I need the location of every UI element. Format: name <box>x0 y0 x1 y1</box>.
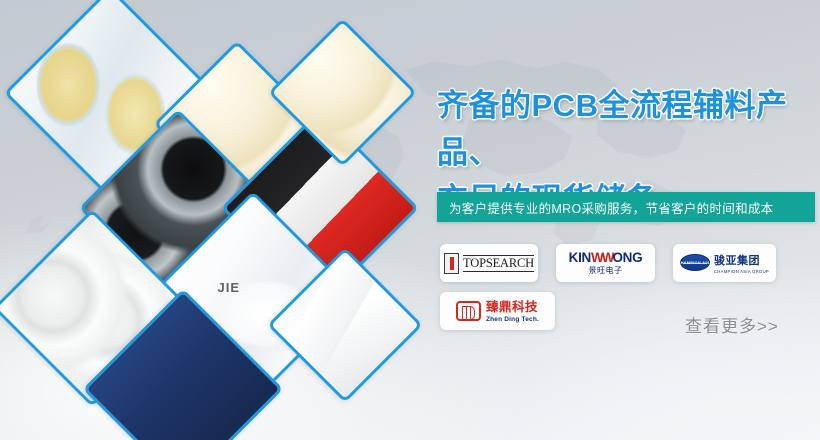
banner-subtitle-text: 为客户提供专业的MRO采购服务，节省客户的时间和成本 <box>449 198 773 217</box>
promo-banner: JIE 齐备的PCB全流程辅料产品、 充足的现货储备 为客户提供专业的MRO采购… <box>0 0 820 440</box>
collage-tile-navy-pouch <box>83 289 284 440</box>
sticker-watermark: JIE <box>218 280 241 295</box>
partner-logo-topsearch[interactable]: TOPSEARCH <box>440 244 538 282</box>
collage-tile-white-rolls <box>0 209 191 407</box>
collage-tile-film-rolls <box>4 0 216 199</box>
partner-logo-row-2: 臻鼎科技 Zhen Ding Tech. <box>440 292 555 330</box>
collage-tile-sticker-sheet: JIE <box>147 191 359 403</box>
kinwong-label-cn: 景旺电子 <box>569 267 643 275</box>
topsearch-mark-icon <box>444 253 459 274</box>
zhen-ding-mark-icon <box>456 301 481 321</box>
banner-subtitle-bar: 为客户提供专业的MRO采购服务，节省客户的时间和成本 <box>437 192 815 222</box>
kinwong-label-en: KINWWONG <box>569 251 643 265</box>
product-collage: JIE <box>0 0 430 440</box>
partner-logo-kinwong[interactable]: KINWWONG 景旺电子 <box>556 244 655 282</box>
collage-tile-dark-rolls <box>79 109 277 307</box>
collage-tile-color-sheets <box>221 109 419 307</box>
banner-content: 齐备的PCB全流程辅料产品、 充足的现货储备 为客户提供专业的MRO采购服务，节… <box>430 0 820 440</box>
collage-tile-paper-stack <box>267 247 423 403</box>
zhen-ding-label-cn: 臻鼎科技 <box>486 300 538 314</box>
view-more-link[interactable]: 查看更多>> <box>685 312 779 337</box>
topsearch-label: TOPSEARCH <box>463 255 534 272</box>
champion-asia-globe-icon: CHAMPION ASIA <box>680 254 710 271</box>
collage-tile-cream-rolls <box>154 41 321 208</box>
champion-asia-label-cn: 骏亚集团 <box>714 255 760 267</box>
collage-tile-partial-upper-right <box>268 18 416 166</box>
partner-logo-row-1: TOPSEARCH KINWWONG 景旺电子 CHAMPION ASIA 骏亚… <box>440 244 776 282</box>
partner-logo-zhen-ding[interactable]: 臻鼎科技 Zhen Ding Tech. <box>440 292 555 330</box>
partner-logo-champion-asia[interactable]: CHAMPION ASIA 骏亚集团 CHAMPION ASIA GROUP <box>673 244 776 282</box>
zhen-ding-label-en: Zhen Ding Tech. <box>486 317 539 324</box>
champion-asia-label-en: CHAMPION ASIA GROUP <box>714 270 769 274</box>
